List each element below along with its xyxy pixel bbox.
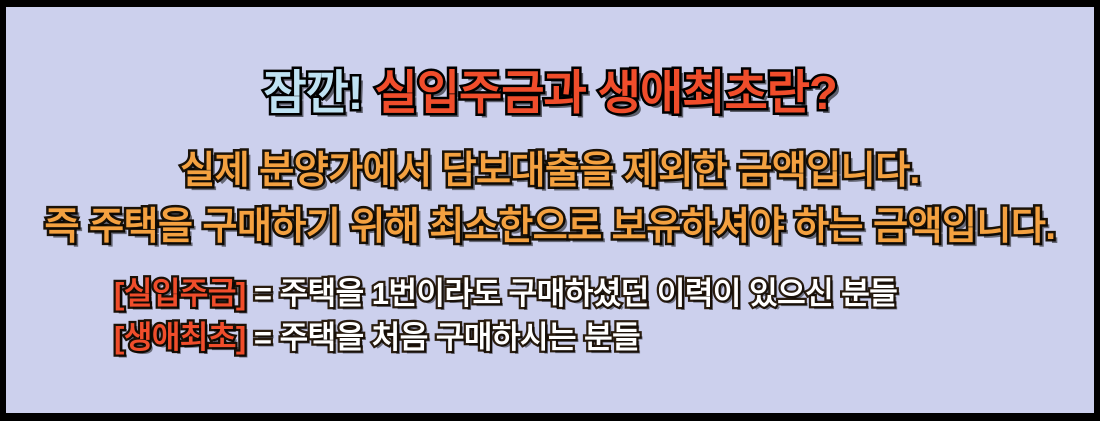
definition-term-saengaechoecho: [생애최초] xyxy=(114,320,246,355)
definition-row-2: [생애최초] = 주택을 처음 구매하시는 분들 xyxy=(114,322,640,353)
definition-description-saengaechoecho: = 주택을 처음 구매하시는 분들 xyxy=(254,320,640,355)
body-line-2: 즉 주택을 구매하기 위해 최소한으로 보유하셔야 하는 금액입니다. xyxy=(6,208,1094,246)
title-main-text: 실입주금과 생애최초란? xyxy=(375,66,837,119)
definition-description-silibjugeum: = 주택을 1번이라도 구매하셨던 이력이 있으신 분들 xyxy=(254,276,897,311)
poster-canvas: 잠깐! 실입주금과 생애최초란? 실제 분양가에서 담보대출을 제외한 금액입니… xyxy=(6,7,1094,413)
poster-title: 잠깐! 실입주금과 생애최초란? xyxy=(6,69,1094,116)
body-line-1: 실제 분양가에서 담보대출을 제외한 금액입니다. xyxy=(6,152,1094,190)
definition-row-1: [실입주금] = 주택을 1번이라도 구매하셨던 이력이 있으신 분들 xyxy=(114,278,897,309)
poster-banner: 잠깐! 실입주금과 생애최초란? 실제 분양가에서 담보대출을 제외한 금액입니… xyxy=(0,0,1100,421)
definition-term-silibjugeum: [실입주금] xyxy=(114,276,246,311)
title-highlight-text: 잠깐! xyxy=(263,66,362,119)
